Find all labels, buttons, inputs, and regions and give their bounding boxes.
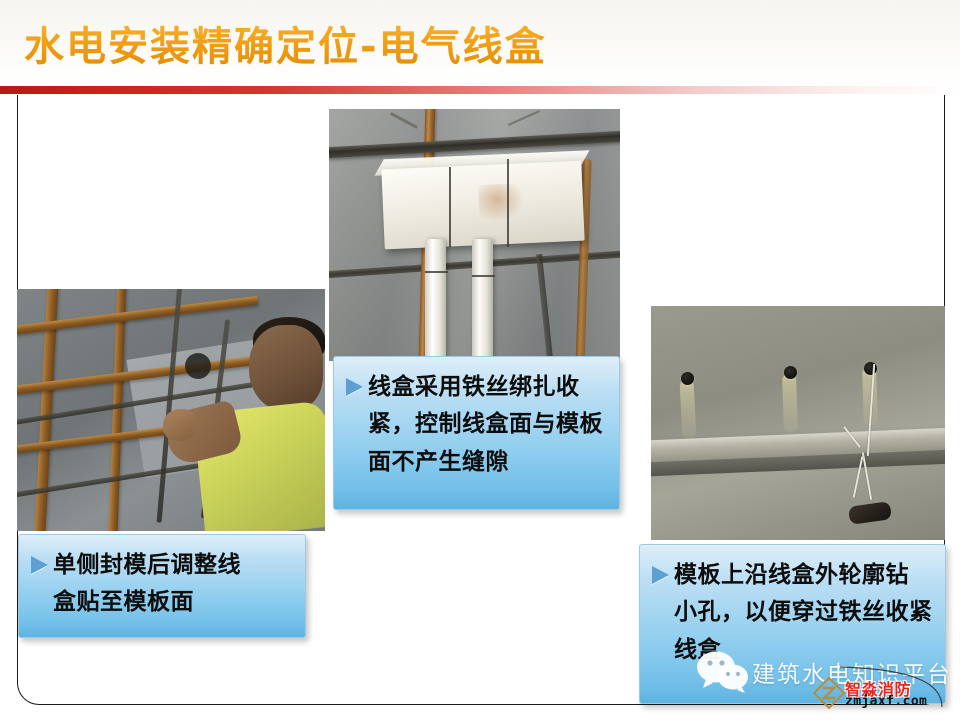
callout-line: 盒贴至模板面: [31, 584, 291, 621]
callout-text: 紧，控制线盒面与模板: [368, 406, 603, 443]
conduit-pipe-right: [472, 239, 493, 361]
grout-streak-2: [782, 374, 798, 432]
arrow-right-bullet-icon: [346, 378, 363, 396]
wire-tie-pipe-left: [425, 271, 448, 273]
page-title: 水电安装精确定位-电气线盒: [24, 14, 547, 72]
callout-text: 单侧封模后调整线: [53, 547, 241, 584]
title-divider-rule: [0, 86, 960, 94]
wire-knot: [185, 353, 211, 379]
wechat-icon: [694, 650, 750, 694]
callout-text: 模板上沿线盒外轮廓钻: [674, 557, 909, 594]
slide-header: 水电安装精确定位-电气线盒 水电安装精确定位-电气线盒: [0, 0, 960, 88]
binding-wire-vertical-2: [507, 159, 509, 247]
arrow-right-bullet-icon: [652, 566, 669, 584]
callout-line: 紧，控制线盒面与模板: [346, 406, 605, 443]
wire-tie-pipe-right: [472, 275, 495, 277]
grout-streak-1: [679, 380, 696, 439]
drilled-hole-1: [681, 372, 694, 385]
watermark-brand-domain: zmjaxf.com: [845, 694, 927, 709]
junction-box-photo: [329, 109, 620, 361]
worker-photo: [17, 289, 325, 531]
binding-wire-vertical: [449, 167, 451, 247]
formwork-photo: [651, 306, 945, 540]
diamond-logo-icon: [812, 676, 846, 710]
worker-hand: [163, 409, 197, 441]
callout-line: 小孔，以便穿过铁丝收紧: [652, 594, 931, 631]
callout-text: 线盒采用铁丝绑扎收: [368, 369, 580, 406]
callout-text: 小孔，以便穿过铁丝收紧: [674, 594, 933, 631]
callout-line: 面不产生缝隙: [346, 444, 605, 481]
callout-junction-box: 线盒采用铁丝绑扎收 紧，控制线盒面与模板 面不产生缝隙: [333, 356, 620, 510]
callout-text: 盒贴至模板面: [53, 584, 194, 621]
worker-head: [249, 325, 323, 411]
callout-line: 线盒采用铁丝绑扎收: [346, 369, 605, 406]
junction-box-rust-stain: [478, 183, 526, 223]
drilled-hole-2: [784, 366, 797, 379]
callout-adjust-box: 单侧封模后调整线 盒贴至模板面: [18, 534, 306, 638]
callout-line: 单侧封模后调整线: [31, 547, 291, 584]
callout-text: 面不产生缝隙: [368, 444, 509, 481]
callout-line: 模板上沿线盒外轮廓钻: [652, 557, 931, 594]
arrow-right-bullet-icon: [31, 556, 48, 574]
conduit-pipe-left: [425, 239, 446, 361]
